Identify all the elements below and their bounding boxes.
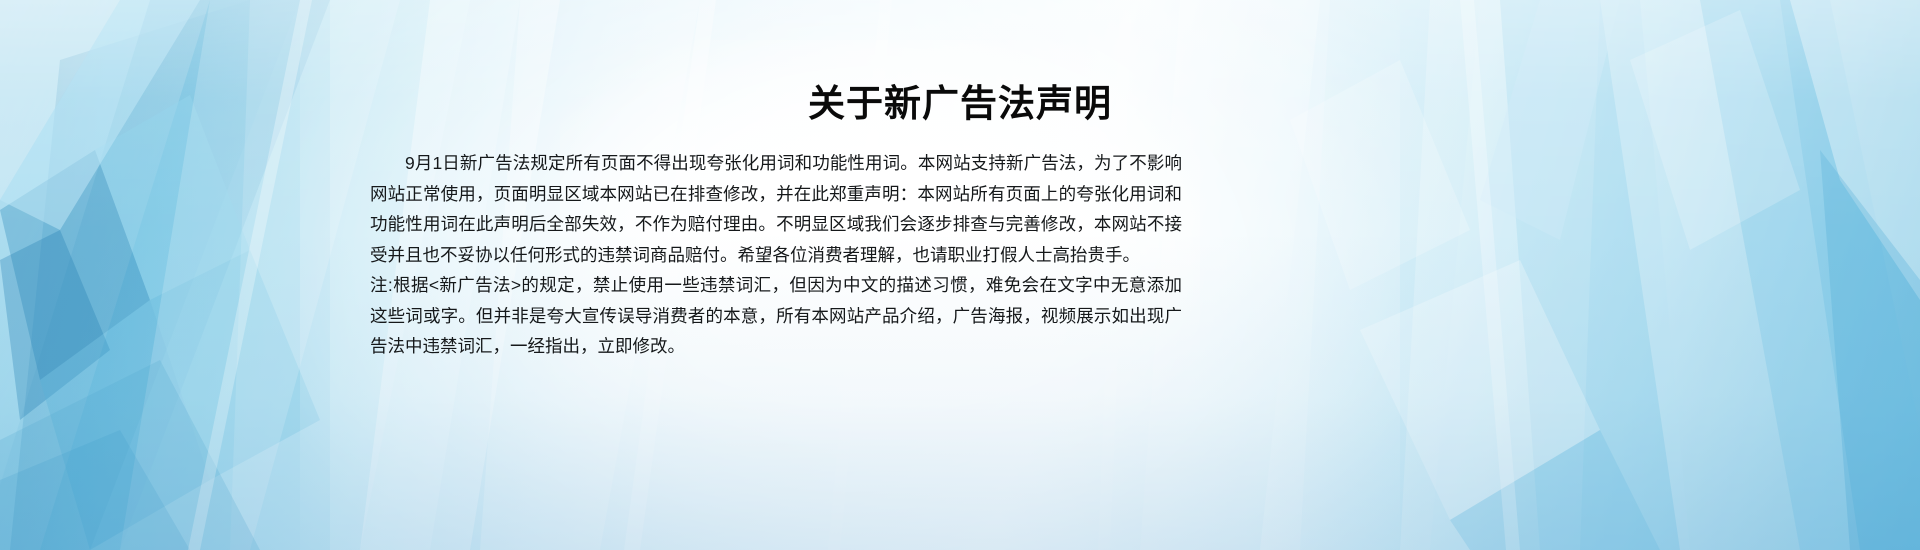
advertising-law-statement-banner: 关于新广告法声明 9月1日新广告法规定所有页面不得出现夸张化用词和功能性用词。本…: [0, 0, 1920, 550]
statement-body: 9月1日新广告法规定所有页面不得出现夸张化用词和功能性用词。本网站支持新广告法，…: [370, 148, 1182, 362]
page-title: 关于新广告法声明: [0, 82, 1920, 126]
statement-paragraph-1: 9月1日新广告法规定所有页面不得出现夸张化用词和功能性用词。本网站支持新广告法，…: [370, 148, 1182, 270]
statement-paragraph-2: 注:根据<新广告法>的规定，禁止使用一些违禁词汇，但因为中文的描述习惯，难免会在…: [370, 270, 1182, 362]
banner-content: 关于新广告法声明 9月1日新广告法规定所有页面不得出现夸张化用词和功能性用词。本…: [0, 0, 1920, 550]
